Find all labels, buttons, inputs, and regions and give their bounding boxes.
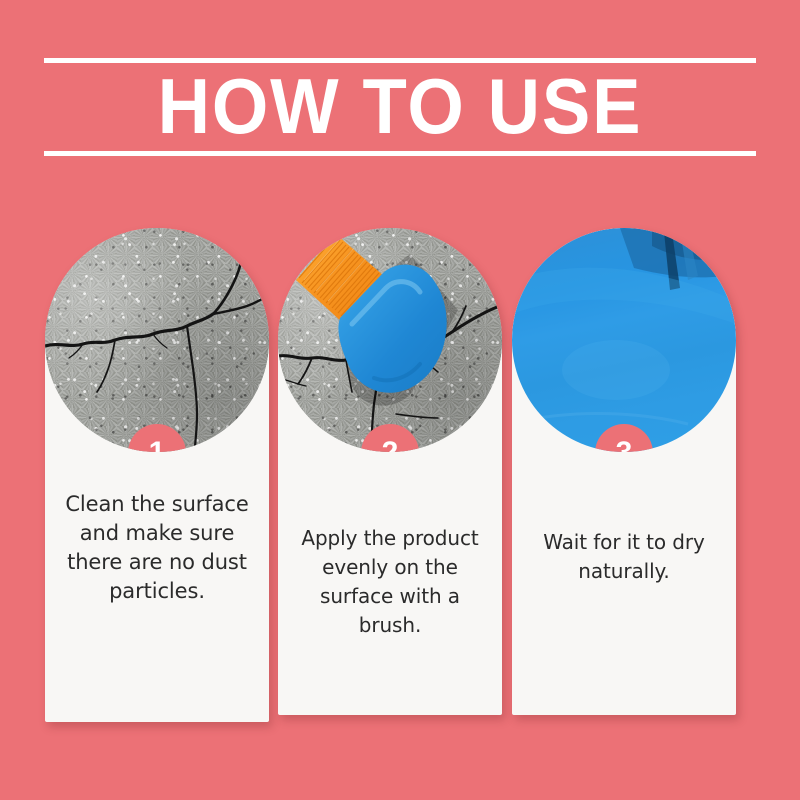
steps-row: 1 Clean the surface and make sure there …: [45, 228, 755, 724]
step-card-3: 3 Wait for it to dry naturally.: [512, 228, 736, 715]
step-caption: Apply the product evenly on the surface …: [288, 524, 492, 640]
step-card-1: 1 Clean the surface and make sure there …: [45, 228, 269, 722]
brush-icon: [278, 228, 502, 452]
step-2-photo: 2: [278, 228, 502, 452]
crack-lines-icon: [45, 228, 269, 452]
how-to-use-poster: HOW TO USE: [0, 0, 800, 800]
poster-header: HOW TO USE: [44, 58, 756, 156]
coating-highlights-icon: [512, 228, 736, 452]
step-caption: Clean the surface and make sure there ar…: [55, 490, 259, 606]
page-title: HOW TO USE: [69, 62, 731, 150]
title-rule-bottom: [44, 151, 756, 156]
step-3-photo: 3: [512, 228, 736, 452]
step-1-photo: 1: [45, 228, 269, 452]
step-caption: Wait for it to dry naturally.: [522, 528, 726, 586]
step-card-2: 2 Apply the product evenly on the surfac…: [278, 228, 502, 715]
